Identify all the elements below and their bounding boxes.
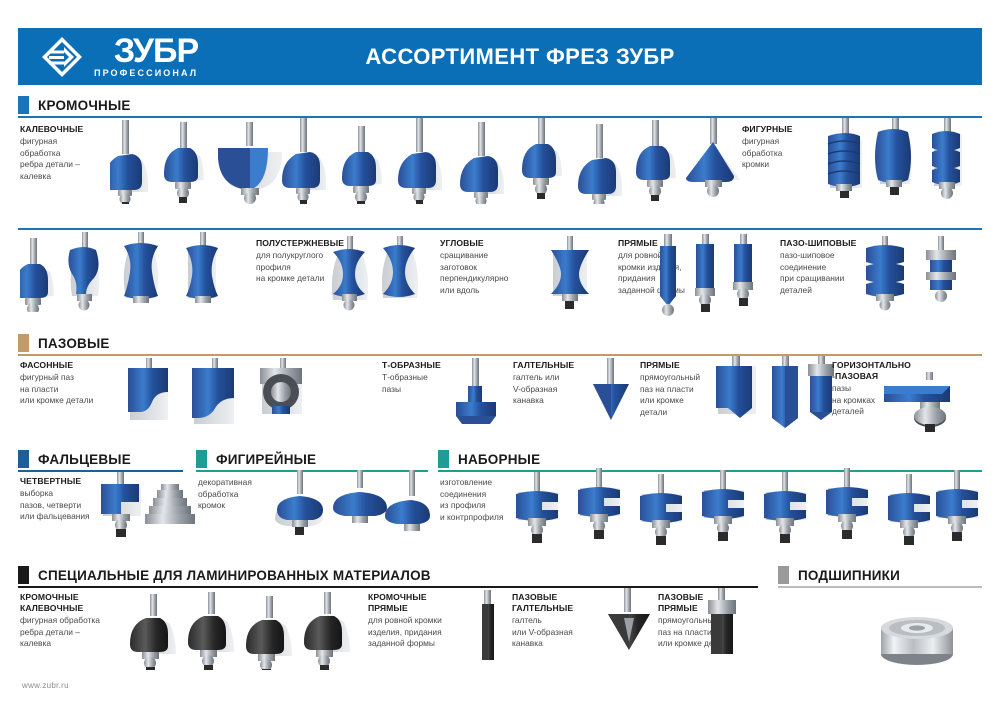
section-chip-icon — [18, 566, 29, 584]
group-label-laminate-pazovye-galtelnye: ПАЗОВЫЕГАЛТЕЛЬНЫЕ галтельили V-образнаяк… — [512, 592, 612, 650]
router-bit-nabornye — [512, 468, 982, 548]
section-heading-spetsialnye: СПЕЦИАЛЬНЫЕ ДЛЯ ЛАМИНИРОВАННЫХ МАТЕРИАЛО… — [18, 566, 431, 584]
router-bit-figireynye — [275, 470, 430, 546]
section-heading-faltsevye: ФАЛЬЦЕВЫЕ — [18, 450, 131, 468]
group-desc: Т-образныепазы — [382, 372, 460, 395]
router-bit-pazo-shipovye — [860, 236, 980, 312]
router-bit-laminate-galtelnye — [600, 588, 660, 668]
section-title: ПАЗОВЫЕ — [38, 336, 110, 351]
section-title: НАБОРНЫЕ — [458, 452, 540, 467]
group-label-uglovye: УГЛОВЫЕ сращиваниезаготовокперпендикуляр… — [440, 238, 545, 296]
section-title: ПОДШИПНИКИ — [798, 568, 900, 583]
group-desc: для ровной кромкиизделия, приданиязаданн… — [368, 615, 478, 650]
router-bit-row-figurnye — [820, 118, 985, 204]
footer-url[interactable]: www.zubr.ru — [22, 681, 69, 690]
bearing-image — [872, 610, 962, 670]
section-heading-pazovye: ПАЗОВЫЕ — [18, 334, 110, 352]
group-label-t-obraznye: Т-ОБРАЗНЫЕ Т-образныепазы — [382, 360, 460, 395]
section-chip-icon — [438, 450, 449, 468]
section-chip-icon — [778, 566, 789, 584]
router-bit-row-kromochnye-a — [110, 118, 740, 204]
router-bit-gorizontalno-pazovaya — [880, 372, 980, 442]
section-chip-icon — [18, 450, 29, 468]
brand-tagline: ПРОФЕССИОНАЛ — [94, 68, 198, 79]
router-bit-galtelnye — [585, 358, 645, 440]
section-rule-row2 — [18, 228, 982, 230]
group-title: ПАЗОВЫЕГАЛТЕЛЬНЫЕ — [512, 592, 612, 614]
section-chip-icon — [196, 450, 207, 468]
section-title: СПЕЦИАЛЬНЫЕ ДЛЯ ЛАМИНИРОВАННЫХ МАТЕРИАЛО… — [38, 568, 431, 583]
group-label-kromochnye-kalevochnye: КРОМОЧНЫЕКАЛЕВОЧНЫЕ фигурная обработкаре… — [20, 592, 130, 650]
section-heading-nabornye: НАБОРНЫЕ — [438, 450, 540, 468]
group-label-fasonnye: ФАСОННЫЕ фигурный пазна пластиили кромке… — [20, 360, 125, 407]
section-rule — [778, 586, 982, 588]
brand-name: ЗУБР — [114, 35, 198, 67]
router-bit-pryamye-pazovye — [710, 356, 840, 442]
section-chip-icon — [18, 96, 29, 114]
group-title: КАЛЕВОЧНЫЕ — [20, 124, 120, 135]
router-bit-polusterzhnevye — [325, 236, 425, 312]
poster-page: ЗУБР ПРОФЕССИОНАЛ АССОРТИМЕНТ ФРЕЗ ЗУБР … — [0, 0, 1000, 707]
section-chip-icon — [18, 334, 29, 352]
group-title: Т-ОБРАЗНЫЕ — [382, 360, 460, 371]
router-bit-chetvertnye — [95, 472, 195, 542]
group-title: КРОМОЧНЫЕКАЛЕВОЧНЫЕ — [20, 592, 130, 614]
group-desc: галтельили V-образнаяканавка — [512, 615, 612, 650]
group-title: ФАСОННЫЕ — [20, 360, 125, 371]
section-heading-kromochnye: КРОМОЧНЫЕ — [18, 96, 131, 114]
router-bit-uglovye — [545, 236, 615, 312]
router-bit-laminate-pryamye — [470, 590, 510, 670]
group-desc: фигурный пазна пластиили кромке детали — [20, 372, 125, 407]
section-heading-figireynye: ФИГИРЕЙНЫЕ — [196, 450, 316, 468]
poster-header: ЗУБР ПРОФЕССИОНАЛ АССОРТИМЕНТ ФРЕЗ ЗУБР — [18, 28, 982, 85]
router-bit-laminate-kromochnye — [128, 592, 358, 670]
brand-logo: ЗУБР ПРОФЕССИОНАЛ — [40, 35, 198, 79]
section-title: ФИГИРЕЙНЫЕ — [216, 452, 316, 467]
section-title: КРОМОЧНЫЕ — [38, 98, 131, 113]
section-heading-podshipniki: ПОДШИПНИКИ — [778, 566, 900, 584]
router-bit-pryamye-kromochnye — [650, 234, 770, 320]
zubr-arrow-logo-icon — [40, 35, 84, 79]
router-bit-laminate-pazovye — [700, 588, 750, 668]
group-label-kalevochnye: КАЛЕВОЧНЫЕ фигурнаяобработкаребра детали… — [20, 124, 120, 182]
router-bit-row-kromochnye-b — [20, 232, 250, 312]
group-title: КРОМОЧНЫЕПРЯМЫЕ — [368, 592, 478, 614]
router-bit-t-obraznye — [450, 358, 510, 440]
group-label-laminate-kromochnye-pryamye: КРОМОЧНЫЕПРЯМЫЕ для ровной кромкиизделия… — [368, 592, 478, 650]
brand-logo-text: ЗУБР ПРОФЕССИОНАЛ — [94, 35, 198, 79]
group-title: УГЛОВЫЕ — [440, 238, 545, 249]
section-title: ФАЛЬЦЕВЫЕ — [38, 452, 131, 467]
group-desc: сращиваниезаготовокперпендикулярноили вд… — [440, 250, 545, 296]
page-title: АССОРТИМЕНТ ФРЕЗ ЗУБР — [198, 44, 842, 70]
group-desc: фигурнаяобработкаребра детали –калевка — [20, 136, 120, 182]
group-desc: фигурная обработкаребра детали –калевка — [20, 615, 130, 650]
router-bit-fasonnye — [120, 358, 350, 440]
